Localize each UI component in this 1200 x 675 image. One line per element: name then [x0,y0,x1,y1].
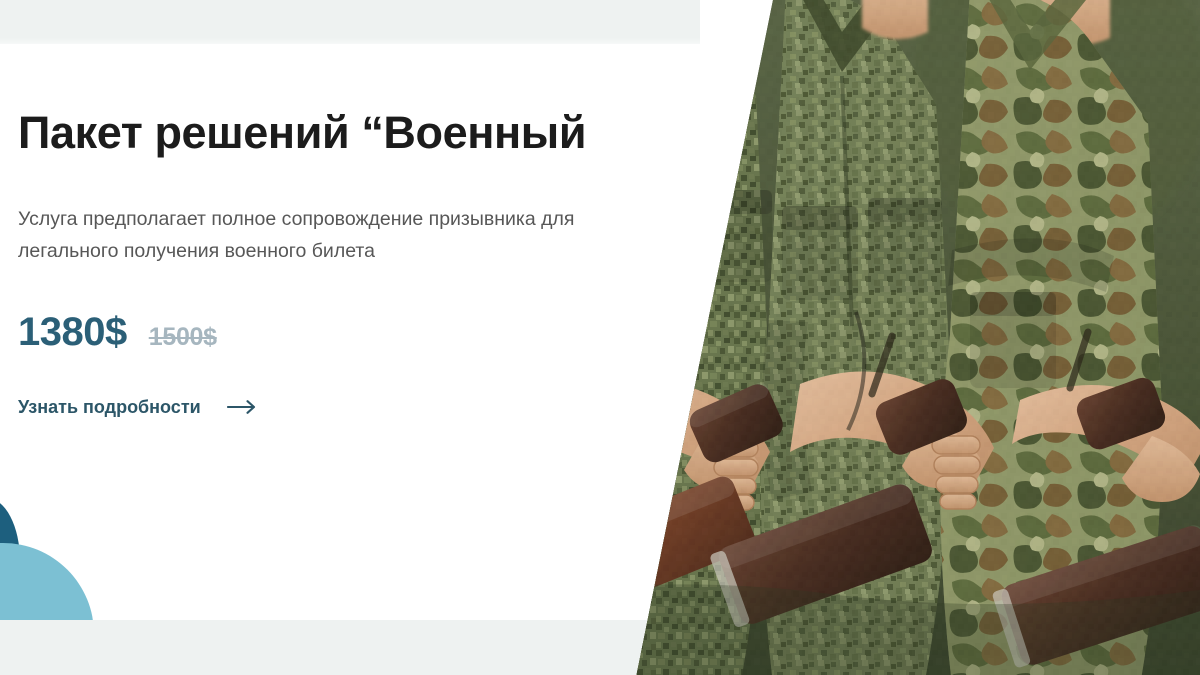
arrow-right-icon [227,399,257,415]
promo-banner: Пакет решений “Военный Услуга предполага… [0,0,1200,675]
offer-content: Пакет решений “Военный Услуга предполага… [18,108,658,418]
offer-description: Услуга предполагает полное сопровождение… [18,204,593,267]
page-title: Пакет решений “Военный [18,108,658,158]
price-block: 1380$ 1500$ [18,310,658,355]
price-original: 1500$ [149,323,217,352]
price-current: 1380$ [18,310,127,355]
bottom-band-overlay [0,620,700,675]
details-link-label: Узнать подробности [18,397,201,418]
details-link[interactable]: Узнать подробности [18,397,257,418]
